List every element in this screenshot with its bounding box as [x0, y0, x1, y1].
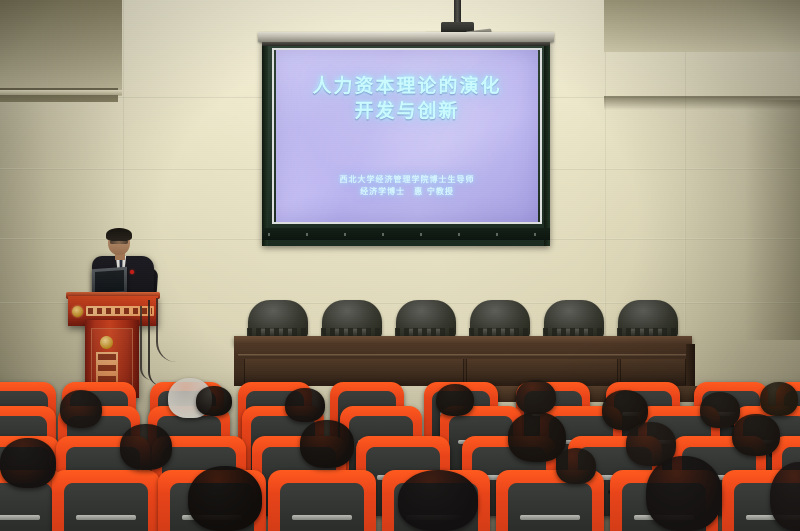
stage-chair-base [321, 328, 383, 336]
slide-title-line-1: 人力资本理论的演化 [276, 74, 538, 99]
attendee-head [0, 438, 56, 488]
podium-crest-icon [100, 336, 113, 349]
seat-cushion [280, 483, 364, 531]
seat-cushion [0, 483, 52, 531]
seat-stripe [292, 515, 353, 521]
attendee-head [300, 420, 354, 468]
slide-title-line-2: 开发与创新 [276, 99, 538, 124]
stage-chair-base [469, 328, 531, 336]
ceiling-soffit-right [604, 0, 800, 52]
audience-seat [52, 470, 160, 531]
seat-cushion [508, 483, 592, 531]
wall-shadow-right [744, 100, 800, 340]
attendee-head [398, 470, 478, 531]
stage-chair-base [395, 328, 457, 336]
slide-title: 人力资本理论的演化 开发与创新 [276, 74, 538, 124]
attendee-head [760, 382, 798, 416]
av-cable [140, 306, 152, 380]
ceiling-soffit-left [0, 0, 122, 96]
attendee-head [556, 448, 596, 484]
projection-screen: 人力资本理论的演化 开发与创新 西北大学经济管理学院博士生导师 经济学博士 惠 … [276, 50, 538, 222]
attendee-head [285, 388, 325, 422]
attendee-head [188, 466, 262, 531]
stage-chair-base [543, 328, 605, 336]
av-cable [156, 298, 176, 362]
laptop-screen [95, 270, 124, 293]
head-table-groove [238, 354, 688, 357]
board-top-rail [258, 32, 554, 42]
attendee-head [732, 414, 780, 456]
attendee-head [700, 392, 740, 428]
seat-stripe [0, 515, 40, 521]
attendee-head [436, 384, 474, 416]
slide-subtitle: 西北大学经济管理学院博士生导师 经济学博士 惠 宁教授 [276, 174, 538, 198]
attendee-head [516, 380, 556, 414]
lecture-hall-photo: 人力资本理论的演化 开发与创新 西北大学经济管理学院博士生导师 经济学博士 惠 … [0, 0, 800, 531]
head-table-end [686, 344, 695, 388]
seat-stripe [76, 515, 137, 521]
seat-cushion [64, 483, 148, 531]
slide-subtitle-line-2: 经济学博士 惠 宁教授 [276, 186, 538, 198]
podium-vertical-inscription [96, 352, 118, 384]
lapel-pin-icon [130, 270, 134, 274]
stage-chair-base [617, 328, 679, 336]
attendee-head [120, 424, 172, 470]
attendee-head [508, 412, 566, 462]
board-top-shadow [262, 42, 550, 46]
slide-subtitle-line-1: 西北大学经济管理学院博士生导师 [276, 174, 538, 186]
attendee-head [646, 456, 722, 531]
attendee-head [60, 390, 102, 428]
board-edge-right [544, 36, 550, 246]
stage-chair-base [247, 328, 309, 336]
soffit-ledge-left [0, 90, 122, 95]
board-edge-left [262, 36, 268, 246]
institution-crest-icon [72, 306, 83, 317]
speaker-face-shadow [110, 240, 128, 244]
board-tray-markers [268, 233, 544, 236]
seat-stripe [520, 515, 581, 521]
audience-seat [268, 470, 376, 531]
attendee-head [196, 386, 232, 416]
